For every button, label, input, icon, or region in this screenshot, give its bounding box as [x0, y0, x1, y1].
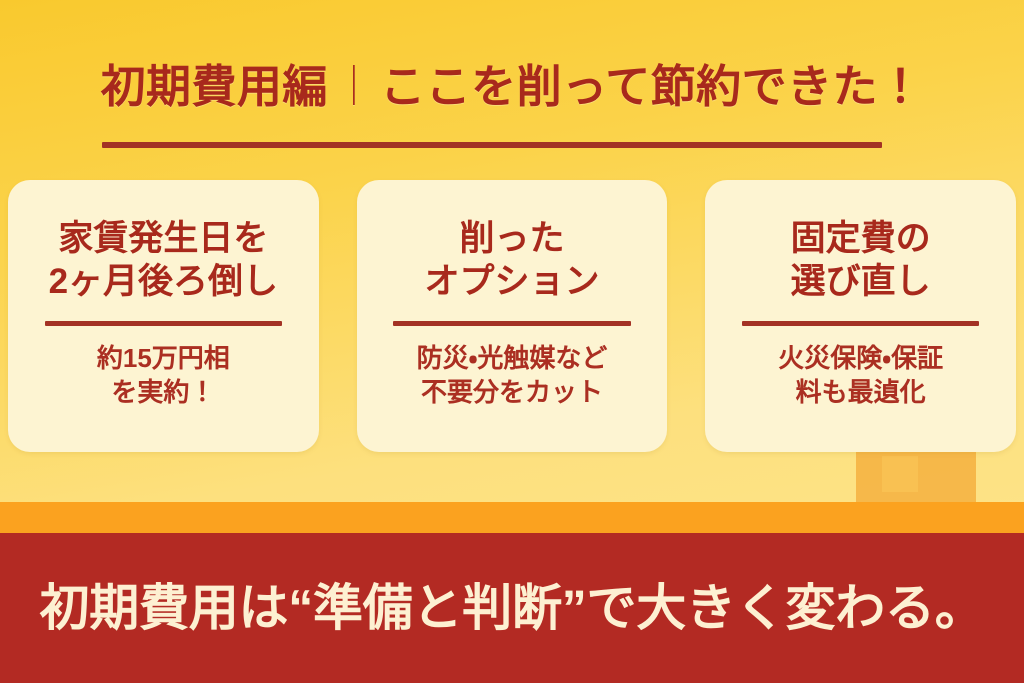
orange-divider-band	[0, 502, 1024, 533]
card-heading: 固定費の 選び直し	[719, 218, 1002, 303]
card-row: 家賃発生日を 2ヶ月後ろ倒し 約15万円相 を実約！ 削った オプション 防災・…	[8, 180, 1016, 452]
bottom-banner-text: 初期費用は“準備と判断”で大きく変わる。	[40, 581, 985, 636]
bottom-banner: 初期費用は“準備と判断”で大きく変わる。	[0, 533, 1024, 683]
card-subtext: 約15万円相 を実約！	[22, 341, 305, 410]
card-divider	[393, 321, 630, 326]
card-subtext: 火災保険・保証 料も最遉化	[719, 341, 1002, 410]
card-fixed-cost-review: 固定費の 選び直し 火災保険・保証 料も最遉化	[705, 180, 1016, 452]
header: 初期費用編｜ここを削って節約できた！	[0, 62, 1024, 112]
card-divider	[742, 321, 979, 326]
page-title-sub: ここを削って節約できた！	[380, 61, 923, 112]
infographic-root: 初期費用編｜ここを削って節約できた！ 家賃発生日を 2ヶ月後ろ倒し 約15万円相…	[0, 0, 1024, 683]
card-heading: 削った オプション	[371, 218, 654, 303]
page-title: 初期費用編｜ここを削って節約できた！	[0, 62, 1024, 112]
header-underline	[102, 142, 882, 148]
card-heading: 家賃発生日を 2ヶ月後ろ倒し	[22, 218, 305, 303]
card-cut-options: 削った オプション 防災・光触媒など 不要分をカット	[357, 180, 668, 452]
page-title-separator: ｜	[328, 65, 380, 109]
card-rent-start-date: 家賃発生日を 2ヶ月後ろ倒し 約15万円相 を実約！	[8, 180, 319, 452]
card-divider	[45, 321, 282, 326]
card-subtext: 防災・光触媒など 不要分をカット	[371, 341, 654, 410]
page-title-main: 初期費用編	[101, 61, 328, 112]
